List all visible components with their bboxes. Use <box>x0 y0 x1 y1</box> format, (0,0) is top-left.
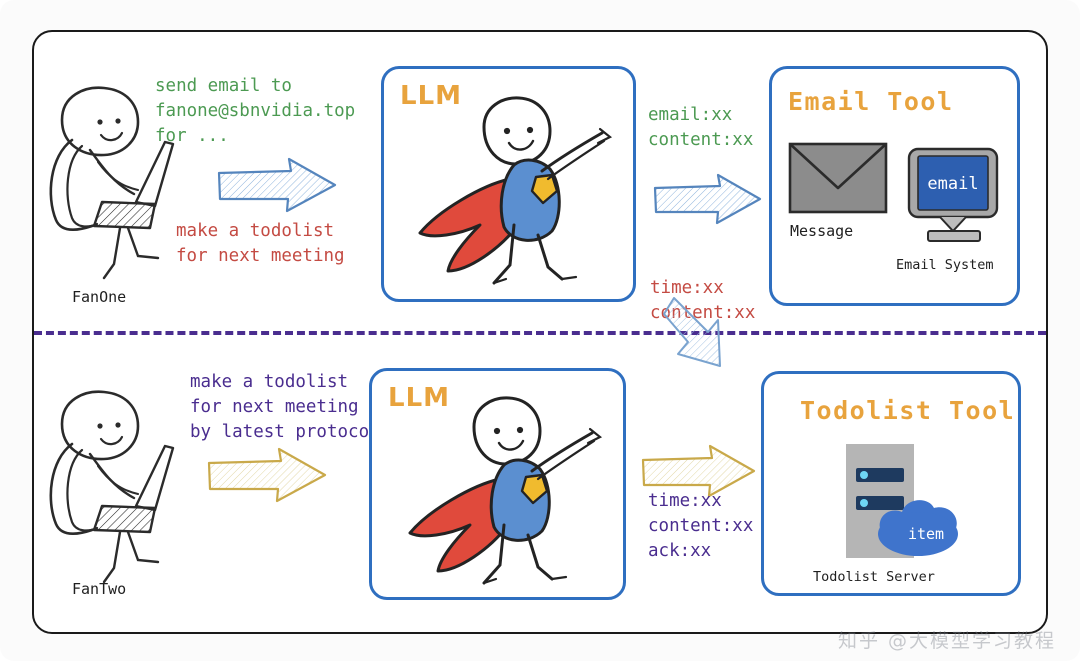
yellow-hatched-right-arrow <box>205 445 330 507</box>
superhero-stick-figure-icon-2 <box>392 393 627 598</box>
actor-label-fanone: FanOne <box>72 288 126 306</box>
monitor-icon: email <box>906 147 1004 247</box>
server-cloud-icon: item <box>844 442 966 560</box>
diagram-canvas: FanOne send email to fanone@sbnvidia.top… <box>0 0 1080 661</box>
monitor-screen-text: email <box>927 174 978 194</box>
cloud-item-text: item <box>908 525 944 543</box>
blue-hatched-diagonal-down-right-arrow <box>662 292 782 374</box>
email-tool-title: Email Tool <box>788 87 954 116</box>
watermark: 知乎 @大模型学习教程 <box>838 626 1056 653</box>
envelope-icon <box>788 142 888 214</box>
llm-panel-bottom: LLM <box>369 368 626 600</box>
email-tool-panel: Email Tool Message email Email System <box>769 66 1020 306</box>
todolist-tool-title: Todolist Tool <box>800 396 1015 425</box>
email-system-label: Email System <box>896 257 994 273</box>
payload-text-purple: time:xx content:xx ack:xx <box>648 489 753 564</box>
todolist-tool-panel: Todolist Tool item Todolist Server <box>761 371 1021 596</box>
prompt-text-purple: make a todolist for next meeting by late… <box>190 370 380 445</box>
llm-panel-top: LLM <box>381 66 636 302</box>
actor-label-fantwo: FanTwo <box>72 580 126 598</box>
todolist-server-label: Todolist Server <box>813 569 935 585</box>
section-divider <box>34 331 1046 335</box>
prompt-text-green: send email to fanone@sbnvidia.top for ..… <box>155 74 355 149</box>
blue-hatched-right-arrow <box>215 155 340 217</box>
blue-hatched-right-arrow-2 <box>652 172 764 228</box>
prompt-text-red: make a todolist for next meeting <box>176 219 345 269</box>
payload-text-green: email:xx content:xx <box>648 103 753 153</box>
superhero-stick-figure-icon <box>402 93 637 298</box>
envelope-label: Message <box>790 222 853 240</box>
